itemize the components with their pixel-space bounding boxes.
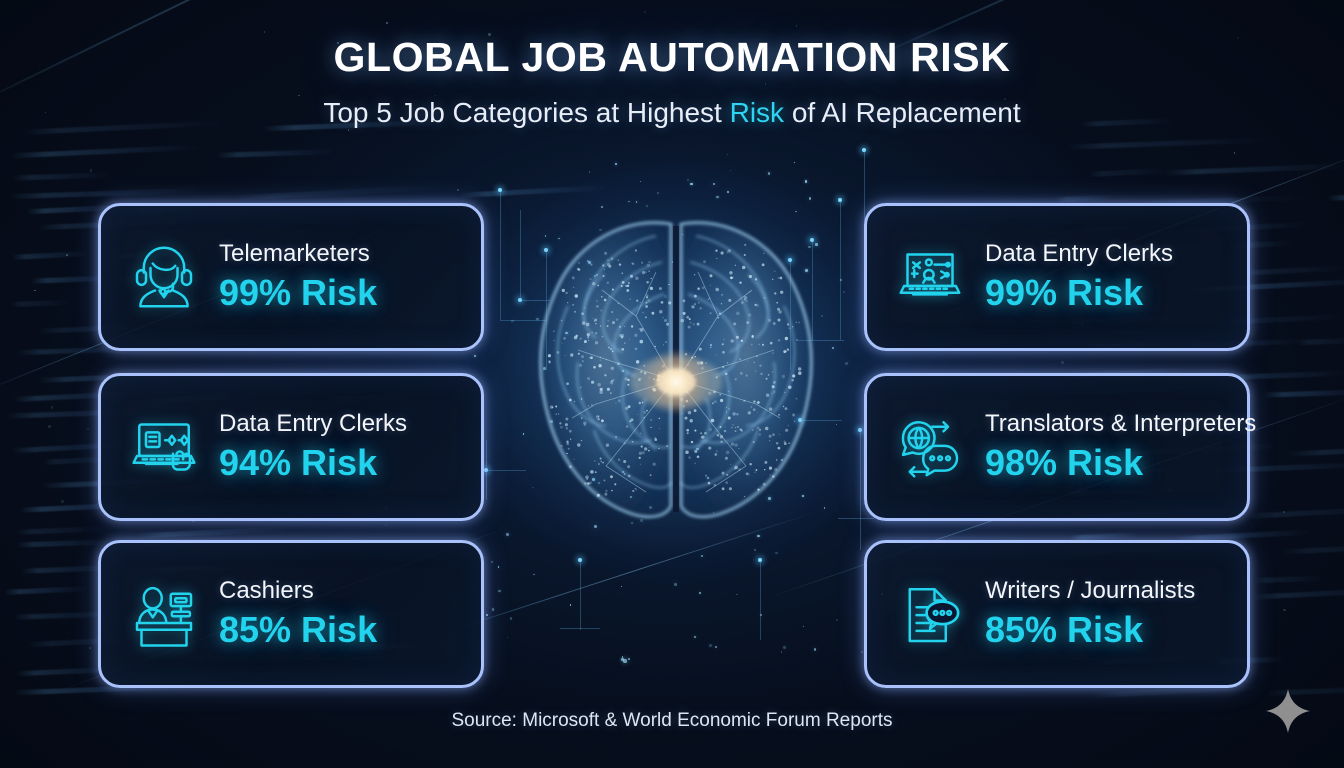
risk-card-cashiers[interactable]: Cashiers 85% Risk <box>98 540 484 688</box>
page-subtitle: Top 5 Job Categories at Highest Risk of … <box>0 97 1344 129</box>
brain-center-glow <box>641 347 711 417</box>
subtitle-pre: Top 5 Job Categories at Highest <box>323 97 729 128</box>
document-chat-icon <box>889 571 971 657</box>
risk-card-data-entry-clerks-left[interactable]: Data Entry Clerks 94% Risk <box>98 373 484 521</box>
cashier-register-icon <box>123 571 205 657</box>
card-risk-value: 99% Risk <box>219 272 377 314</box>
card-title: Writers / Journalists <box>985 577 1195 605</box>
card-text: Writers / Journalists 85% Risk <box>985 577 1195 651</box>
card-text: Translators & Interpreters 98% Risk <box>985 410 1256 484</box>
card-title: Translators & Interpreters <box>985 410 1256 438</box>
risk-card-telemarketers[interactable]: Telemarketers 99% Risk <box>98 203 484 351</box>
card-text: Cashiers 85% Risk <box>219 577 377 651</box>
sparkle-icon <box>1264 687 1312 735</box>
infographic-canvas: GLOBAL JOB AUTOMATION RISK Top 5 Job Cat… <box>0 0 1344 768</box>
card-title: Data Entry Clerks <box>219 410 407 438</box>
card-risk-value: 99% Risk <box>985 272 1173 314</box>
globe-chat-icon <box>889 404 971 490</box>
brain-glow <box>461 164 891 584</box>
digital-brain-illustration <box>486 166 866 566</box>
card-text: Data Entry Clerks 94% Risk <box>219 410 407 484</box>
page-title: GLOBAL JOB AUTOMATION RISK <box>0 34 1344 81</box>
risk-card-translators[interactable]: Translators & Interpreters 98% Risk <box>864 373 1250 521</box>
card-title: Telemarketers <box>219 240 377 268</box>
source-footnote: Source: Microsoft & World Economic Forum… <box>0 710 1344 732</box>
card-text: Data Entry Clerks 99% Risk <box>985 240 1173 314</box>
card-title: Cashiers <box>219 577 377 605</box>
risk-card-data-entry-clerks-right[interactable]: Data Entry Clerks 99% Risk <box>864 203 1250 351</box>
header: GLOBAL JOB AUTOMATION RISK Top 5 Job Cat… <box>0 34 1344 129</box>
card-title: Data Entry Clerks <box>985 240 1173 268</box>
headset-agent-icon <box>123 234 205 320</box>
subtitle-post: of AI Replacement <box>784 97 1021 128</box>
card-risk-value: 94% Risk <box>219 442 407 484</box>
card-risk-value: 98% Risk <box>985 442 1256 484</box>
laptop-data-icon <box>889 234 971 320</box>
card-risk-value: 85% Risk <box>219 609 377 651</box>
subtitle-highlight: Risk <box>730 97 784 128</box>
card-risk-value: 85% Risk <box>985 609 1195 651</box>
card-text: Telemarketers 99% Risk <box>219 240 377 314</box>
brain-svg <box>486 166 866 566</box>
risk-card-writers-journalists[interactable]: Writers / Journalists 85% Risk <box>864 540 1250 688</box>
laptop-hand-icon <box>123 404 205 490</box>
